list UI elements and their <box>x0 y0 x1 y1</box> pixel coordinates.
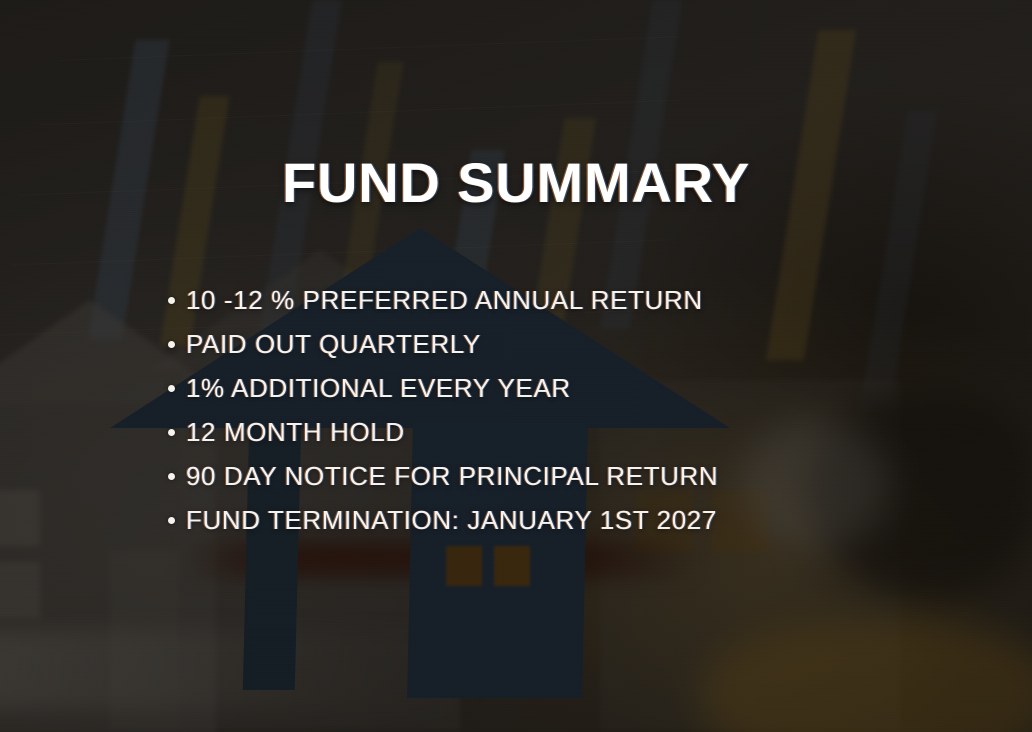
bullet-dot-icon <box>168 473 175 480</box>
fund-summary-list: 10 -12 % PREFERRED ANNUAL RETURN PAID OU… <box>168 278 718 542</box>
list-item: PAID OUT QUARTERLY <box>168 322 718 366</box>
list-item: 10 -12 % PREFERRED ANNUAL RETURN <box>168 278 718 322</box>
list-item-label: 10 -12 % PREFERRED ANNUAL RETURN <box>186 285 703 316</box>
list-item: 1% ADDITIONAL EVERY YEAR <box>168 366 718 410</box>
fund-summary-slide: FUND SUMMARY 10 -12 % PREFERRED ANNUAL R… <box>0 0 1032 732</box>
list-item-label: 12 MONTH HOLD <box>186 417 405 448</box>
list-item: FUND TERMINATION: JANUARY 1ST 2027 <box>168 498 718 542</box>
list-item-label: 1% ADDITIONAL EVERY YEAR <box>186 373 571 404</box>
bullet-dot-icon <box>168 297 175 304</box>
page-title: FUND SUMMARY <box>0 155 1032 211</box>
list-item: 12 MONTH HOLD <box>168 410 718 454</box>
list-item-label: FUND TERMINATION: JANUARY 1ST 2027 <box>186 505 717 536</box>
bullet-dot-icon <box>168 385 175 392</box>
bullet-dot-icon <box>168 517 175 524</box>
list-item: 90 DAY NOTICE FOR PRINCIPAL RETURN <box>168 454 718 498</box>
list-item-label: 90 DAY NOTICE FOR PRINCIPAL RETURN <box>186 461 718 492</box>
bullet-dot-icon <box>168 429 175 436</box>
list-item-label: PAID OUT QUARTERLY <box>186 329 481 360</box>
bullet-dot-icon <box>168 341 175 348</box>
slide-content: FUND SUMMARY 10 -12 % PREFERRED ANNUAL R… <box>0 0 1032 732</box>
